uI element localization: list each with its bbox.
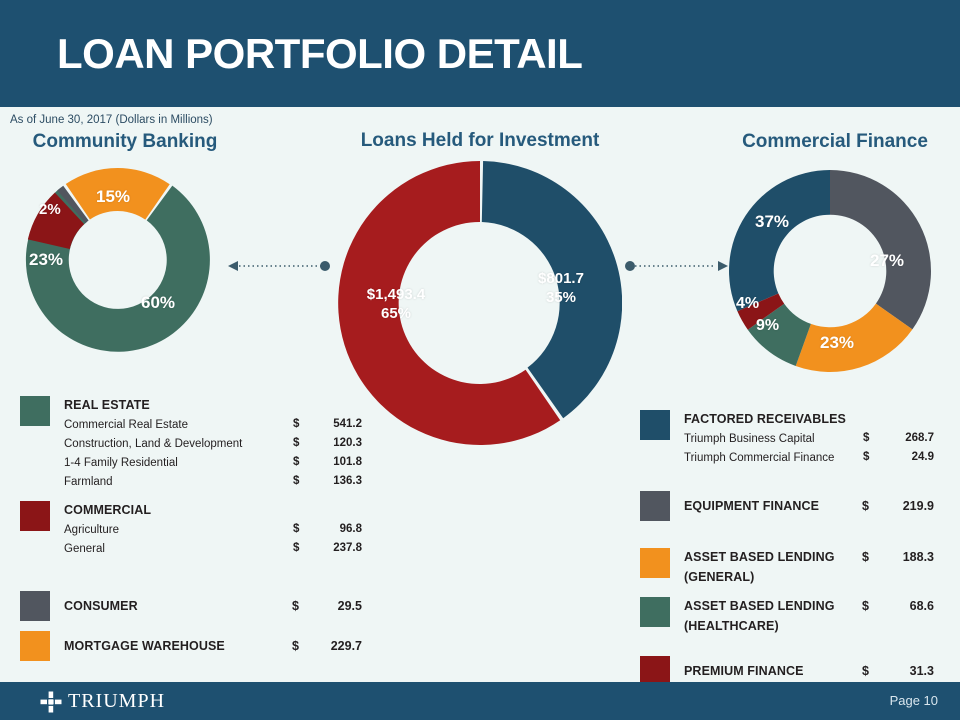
donut-label-abl-healthcare-pct: 9% (756, 317, 779, 335)
legend-swatch-factored-receivables (640, 410, 670, 440)
legend-amount: 68.6 (872, 599, 934, 613)
legend-currency: $ (863, 451, 869, 463)
legend-sub-label: Farmland (64, 476, 113, 488)
legend-currency: $ (293, 437, 299, 449)
connector-dot-left (320, 261, 330, 271)
legend-currency: $ (862, 599, 869, 613)
legend-amount: 229.7 (300, 639, 362, 653)
legend-group-abl-general[interactable]: ASSET BASED LENDING (GENERAL) $ 188.3 (640, 548, 960, 593)
as-of-caption: As of June 30, 2017 (Dollars in Millions… (10, 114, 213, 126)
legend-label-mortgage-warehouse: MORTGAGE WAREHOUSE (64, 639, 225, 653)
donut-label-commercial-pct: 23% (29, 250, 63, 270)
connector-right (624, 258, 728, 274)
legend-label-consumer: CONSUMER (64, 599, 138, 613)
section-title-community-banking: Community Banking (0, 131, 250, 153)
legend-currency: $ (862, 664, 869, 678)
legend-sub-label: Construction, Land & Development (64, 438, 242, 450)
legend-swatch-abl-healthcare (640, 597, 670, 627)
legend-amount: 24.9 (872, 451, 934, 463)
donut-slice-factored-receivables (729, 170, 830, 311)
legend-amount: 101.8 (300, 456, 362, 468)
legend-label-commercial: COMMERCIAL (64, 503, 151, 517)
section-title-loans-held: Loans Held for Investment (330, 130, 630, 152)
legend-group-commercial[interactable]: COMMERCIAL Agriculture $ 96.8 General $ … (20, 501, 380, 576)
legend-community-banking: REAL ESTATE Commercial Real Estate $ 541… (20, 396, 380, 661)
section-title-commercial-finance: Commercial Finance (710, 131, 960, 153)
legend-currency: $ (293, 475, 299, 487)
donut-label-community-banking-value: $1,493.4 65% (346, 286, 446, 324)
legend-label-abl-general-line2: (GENERAL) (684, 570, 754, 584)
page-title: LOAN PORTFOLIO DETAIL (57, 30, 582, 78)
legend-label-equipment-finance: EQUIPMENT FINANCE (684, 499, 819, 513)
legend-label-factored-receivables: FACTORED RECEIVABLES (684, 412, 846, 426)
legend-swatch-consumer (20, 591, 50, 621)
legend-amount: 237.8 (300, 542, 362, 554)
legend-currency: $ (293, 418, 299, 430)
slide: LOAN PORTFOLIO DETAIL As of June 30, 201… (0, 0, 960, 720)
donut-chart-commercial-finance: 37% 27% 23% 9% 4% (728, 167, 932, 375)
legend-group-abl-healthcare[interactable]: ASSET BASED LENDING (HEALTHCARE) $ 68.6 (640, 597, 960, 642)
logo-text: TRIUMPH (68, 690, 165, 713)
donut-label-factored-receivables-pct: 37% (755, 212, 789, 232)
legend-group-real-estate[interactable]: REAL ESTATE Commercial Real Estate $ 541… (20, 396, 380, 482)
legend-currency: $ (292, 599, 299, 613)
donut-label-premium-finance-pct: 4% (736, 295, 759, 313)
legend-currency: $ (862, 499, 869, 513)
legend-amount: 31.3 (872, 664, 934, 678)
legend-group-mortgage-warehouse[interactable]: MORTGAGE WAREHOUSE $ 229.7 (20, 631, 380, 661)
donut-label-commercial-finance-amount: $801.7 (538, 270, 584, 287)
legend-amount: 541.2 (300, 418, 362, 430)
legend-label-real-estate: REAL ESTATE (64, 398, 150, 412)
legend-label-abl-healthcare: ASSET BASED LENDING (684, 599, 835, 613)
legend-amount: 188.3 (872, 550, 934, 564)
donut-label-community-banking-amount: $1,493.4 (367, 286, 425, 303)
legend-sub-label: Triumph Business Capital (684, 433, 815, 445)
legend-swatch-equipment-finance (640, 491, 670, 521)
legend-amount: 96.8 (300, 523, 362, 535)
donut-chart-community-banking: 60% 23% 2% 15% (25, 165, 210, 355)
donut-label-commercial-finance-pct: 35% (546, 289, 576, 306)
page-number: Page 10 (890, 693, 938, 708)
legend-currency: $ (293, 456, 299, 468)
donut-label-community-banking-pct: 65% (381, 305, 411, 322)
legend-sub-label: General (64, 543, 105, 555)
legend-currency: $ (862, 550, 869, 564)
legend-currency: $ (863, 432, 869, 444)
legend-label-abl-general: ASSET BASED LENDING (684, 550, 835, 564)
legend-group-factored-receivables[interactable]: FACTORED RECEIVABLES Triumph Business Ca… (640, 410, 960, 458)
triumph-cross-icon (40, 691, 62, 713)
legend-amount: 120.3 (300, 437, 362, 449)
arrow-left-icon (228, 261, 238, 271)
donut-label-consumer-pct: 2% (39, 201, 61, 218)
legend-swatch-real-estate (20, 396, 50, 426)
legend-group-equipment-finance[interactable]: EQUIPMENT FINANCE $ 219.9 (640, 491, 960, 521)
footer-bar: TRIUMPH Page 10 (0, 682, 960, 720)
legend-commercial-finance: FACTORED RECEIVABLES Triumph Business Ca… (640, 410, 960, 686)
legend-amount: 29.5 (300, 599, 362, 613)
donut-slice-equipment-finance (830, 170, 931, 329)
donut-chart-loans-held: $1,493.4 65% $801.7 35% (338, 158, 622, 448)
legend-swatch-mortgage-warehouse (20, 631, 50, 661)
donut-label-abl-general-pct: 23% (820, 333, 854, 353)
donut-label-real-estate-pct: 60% (141, 293, 175, 313)
donut-label-mortgage-warehouse-pct: 15% (96, 187, 130, 207)
legend-label-premium-finance: PREMIUM FINANCE (684, 664, 804, 678)
legend-label-abl-healthcare-line2: (HEALTHCARE) (684, 619, 779, 633)
legend-group-consumer[interactable]: CONSUMER $ 29.5 (20, 591, 380, 621)
legend-swatch-abl-general (640, 548, 670, 578)
donut-label-equipment-finance-pct: 27% (870, 251, 904, 271)
connector-left (228, 258, 332, 274)
legend-sub-label: Commercial Real Estate (64, 419, 188, 431)
legend-sub-label: 1-4 Family Residential (64, 457, 178, 469)
legend-sub-label: Agriculture (64, 524, 119, 536)
connector-dot-right (625, 261, 635, 271)
legend-currency: $ (292, 639, 299, 653)
legend-amount: 268.7 (872, 432, 934, 444)
donut-label-commercial-finance-value: $801.7 35% (516, 270, 606, 308)
header-bar: LOAN PORTFOLIO DETAIL (0, 0, 960, 107)
legend-sub-label: Triumph Commercial Finance (684, 452, 834, 464)
legend-currency: $ (293, 542, 299, 554)
arrow-right-icon (718, 261, 728, 271)
legend-currency: $ (293, 523, 299, 535)
legend-swatch-commercial (20, 501, 50, 531)
legend-amount: 219.9 (872, 499, 934, 513)
legend-amount: 136.3 (300, 475, 362, 487)
logo[interactable]: TRIUMPH (40, 690, 165, 713)
